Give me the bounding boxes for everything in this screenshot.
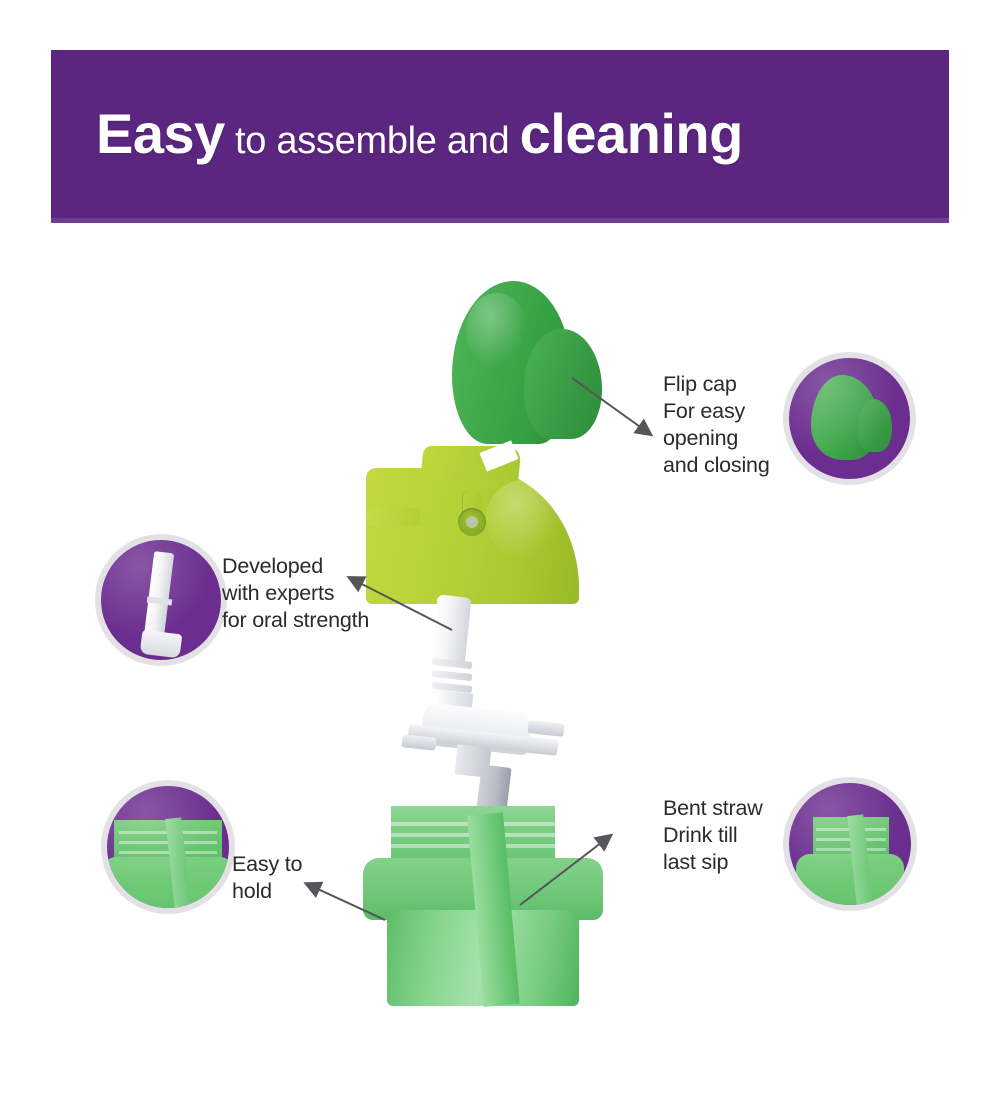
badge-spout-tube [144, 551, 175, 639]
badge-thread-ring [119, 841, 218, 844]
valve-tab-left [401, 734, 436, 750]
badge-developed-experts [101, 540, 221, 660]
title-segment-middle: to assemble and [225, 120, 520, 162]
badge-internal-straw [166, 817, 191, 908]
badge-easy-to-hold [107, 786, 229, 908]
badge-thread-ring [816, 838, 886, 841]
spout-tube [430, 594, 471, 667]
lime-lid-valve-inner [466, 516, 478, 528]
badge-internal-straw [848, 814, 873, 905]
page-title: Easy to assemble and cleaning [96, 106, 743, 162]
badge-flip-cap [789, 358, 910, 479]
product-part-bottle [363, 806, 603, 1000]
badge-bottle-neck [813, 817, 889, 858]
spout-rib [432, 658, 473, 669]
lime-lid-left-step [366, 508, 420, 526]
badge-thread-ring [119, 831, 218, 834]
badge-cap-body [811, 375, 879, 460]
lime-lid-valve-hole [458, 508, 486, 536]
bottle-neck-icon [107, 786, 229, 908]
flip-cap-highlight [466, 293, 528, 367]
badge-spout-rib [146, 596, 172, 605]
valve-tab-right [527, 720, 564, 737]
spout-icon [101, 540, 221, 660]
header-underline [51, 218, 949, 223]
badge-bottle-shoulder [107, 857, 229, 908]
badge-spout-base [139, 630, 181, 659]
badge-bottle-shoulder [796, 854, 903, 905]
flip-cap-icon [789, 358, 910, 479]
lime-lid-highlight [486, 480, 562, 558]
bottle-highlight [427, 1020, 481, 1106]
badge-bent-straw [789, 783, 911, 905]
badge-bottle-neck [114, 820, 221, 861]
badge-cap-bump [858, 399, 892, 452]
callout-label-easy-to-hold: Easy to hold [232, 851, 302, 905]
flip-cap-bump [524, 329, 602, 439]
header-banner: Easy to assemble and cleaning [51, 50, 949, 218]
product-part-spout-valve [408, 596, 578, 766]
title-segment-easy: Easy [96, 102, 225, 165]
product-part-flip-cap [452, 281, 604, 444]
callout-label-bent-straw: Bent straw Drink till last sip [663, 795, 763, 876]
product-part-lime-lid [366, 446, 579, 604]
callout-label-flip-cap: Flip cap For easy opening and closing [663, 371, 770, 479]
badge-thread-ring [119, 851, 218, 854]
title-segment-cleaning: cleaning [520, 102, 743, 165]
callout-label-developed-experts: Developed with experts for oral strength [222, 553, 369, 634]
bent-straw-icon [789, 783, 911, 905]
spout-rib [432, 670, 473, 681]
badge-thread-ring [816, 848, 886, 851]
badge-thread-ring [816, 828, 886, 831]
infographic-canvas: Easy to assemble and cleaning [0, 0, 1000, 1000]
